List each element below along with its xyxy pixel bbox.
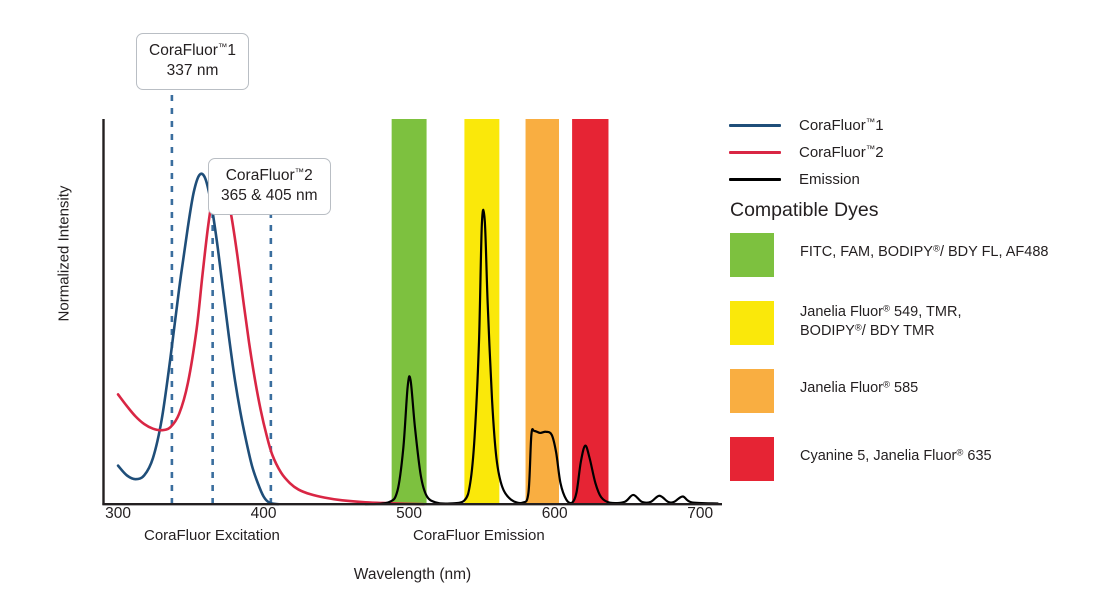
dye-label-orange: Janelia Fluor® 585 bbox=[800, 369, 918, 398]
emission-band-yellow-band bbox=[464, 119, 499, 504]
spectra-figure: CoraFluor™1 337 nm CoraFluor™2 365 & 405… bbox=[0, 0, 1110, 612]
excitation-markers bbox=[172, 95, 271, 504]
callout-2-line1: CoraFluor™2 bbox=[226, 167, 313, 184]
dye-swatch-orange bbox=[730, 369, 774, 413]
legend-swatch-emission bbox=[729, 178, 781, 181]
trademark-icon: ™ bbox=[295, 167, 305, 178]
legend-label-cora-fluor-1: CoraFluor™1 bbox=[799, 117, 884, 134]
dye-row-orange[interactable]: Janelia Fluor® 585 bbox=[730, 369, 1102, 413]
legend-swatch-cora-fluor-2 bbox=[729, 151, 781, 154]
dye-swatch-green bbox=[730, 233, 774, 277]
trademark-icon: ™ bbox=[866, 144, 876, 155]
legend-label-emission: Emission bbox=[799, 171, 860, 188]
x-tick-400: 400 bbox=[234, 505, 294, 523]
legend-item-cora-fluor-2[interactable]: CoraFluor™2 bbox=[729, 139, 1089, 166]
x-tick-600: 600 bbox=[525, 505, 585, 523]
callout-cora-fluor-2: CoraFluor™2 365 & 405 nm bbox=[208, 158, 331, 215]
emission-band-green-band bbox=[392, 119, 427, 504]
legend-label-cora-fluor-2: CoraFluor™2 bbox=[799, 144, 884, 161]
legend-item-emission[interactable]: Emission bbox=[729, 166, 1089, 193]
emission-band-red-band bbox=[572, 119, 608, 504]
registered-icon: ® bbox=[883, 303, 890, 314]
curve-excitation-CoraFluor1 bbox=[118, 174, 278, 504]
callout-1-line1: CoraFluor™1 bbox=[149, 42, 236, 59]
trademark-icon: ™ bbox=[866, 117, 876, 128]
dye-row-yellow[interactable]: Janelia Fluor® 549, TMR,BODIPY®/ BDY TMR bbox=[730, 301, 1102, 345]
dye-row-red[interactable]: Cyanine 5, Janelia Fluor® 635 bbox=[730, 437, 1102, 481]
callout-cora-fluor-1: CoraFluor™1 337 nm bbox=[136, 33, 249, 90]
dye-label-yellow: Janelia Fluor® 549, TMR,BODIPY®/ BDY TMR bbox=[800, 301, 961, 342]
legend: CoraFluor™1CoraFluor™2Emission bbox=[729, 112, 1089, 193]
x-tick-700: 700 bbox=[670, 505, 730, 523]
registered-icon: ® bbox=[855, 323, 862, 334]
dye-swatch-red bbox=[730, 437, 774, 481]
callout-1-line2: 337 nm bbox=[149, 61, 236, 81]
x-tick-500: 500 bbox=[379, 505, 439, 523]
registered-icon: ® bbox=[933, 243, 940, 254]
dye-label-green: FITC, FAM, BODIPY®/ BDY FL, AF488 bbox=[800, 233, 1048, 262]
x-tick-300: 300 bbox=[88, 505, 148, 523]
x-axis-title: Wavelength (nm) bbox=[0, 566, 825, 584]
x-axis-sublabel-excitation: CoraFluor Excitation bbox=[144, 527, 280, 544]
emission-bands bbox=[392, 119, 609, 504]
dye-label-red: Cyanine 5, Janelia Fluor® 635 bbox=[800, 437, 992, 466]
callout-2-line2: 365 & 405 nm bbox=[221, 186, 318, 206]
x-axis-sublabel-emission: CoraFluor Emission bbox=[413, 527, 545, 544]
y-axis-title: Normalized Intensity bbox=[56, 164, 73, 344]
dye-row-green[interactable]: FITC, FAM, BODIPY®/ BDY FL, AF488 bbox=[730, 233, 1102, 277]
compatible-dyes-title: Compatible Dyes bbox=[730, 199, 878, 222]
legend-swatch-cora-fluor-1 bbox=[729, 124, 781, 127]
registered-icon: ® bbox=[883, 379, 890, 390]
legend-item-cora-fluor-1[interactable]: CoraFluor™1 bbox=[729, 112, 1089, 139]
compatible-dyes-list: FITC, FAM, BODIPY®/ BDY FL, AF488Janelia… bbox=[730, 233, 1102, 505]
trademark-icon: ™ bbox=[218, 42, 228, 53]
dye-swatch-yellow bbox=[730, 301, 774, 345]
